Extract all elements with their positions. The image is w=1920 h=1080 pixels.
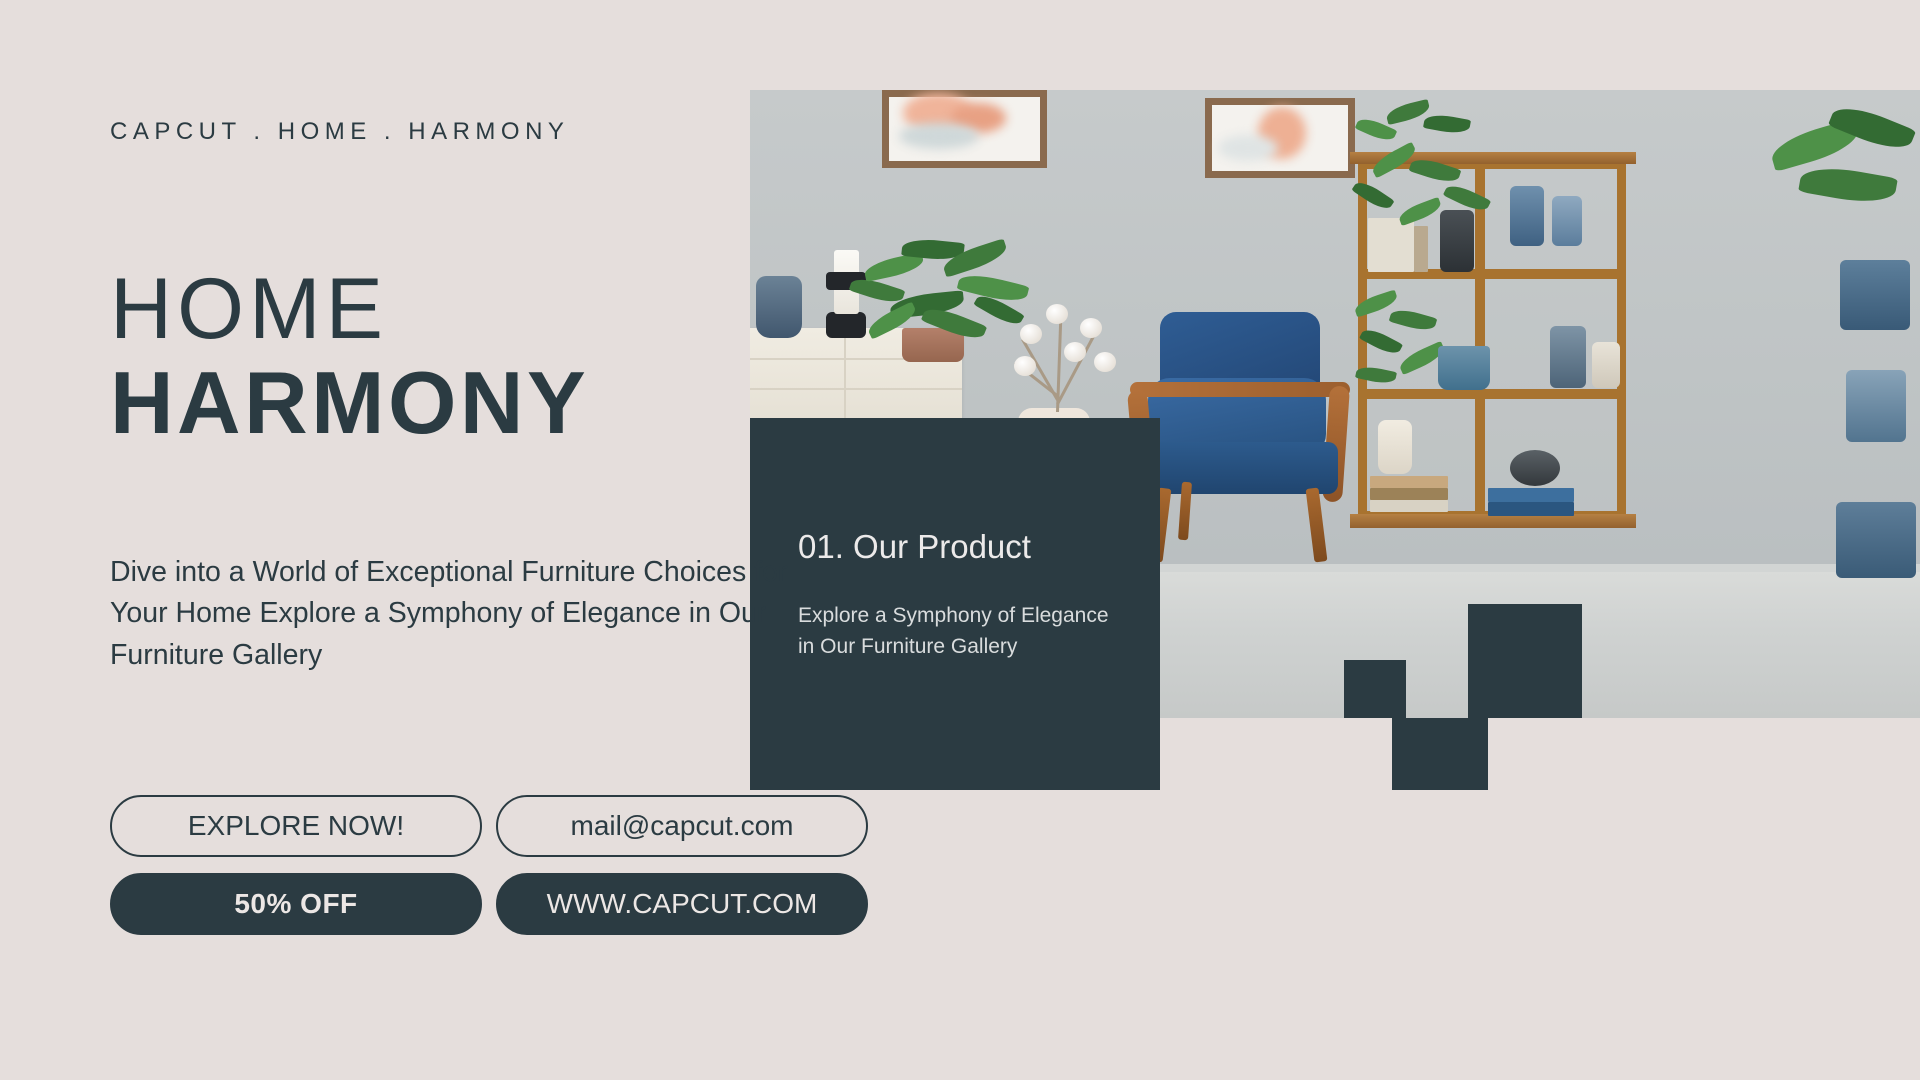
photo-monstera-leaf	[1770, 110, 1920, 250]
photo-shelf-planter-right	[1840, 260, 1910, 330]
photo-shelf-vase-right	[1846, 370, 1906, 442]
photo-fern-plant	[846, 230, 1046, 350]
explore-now-button[interactable]: EXPLORE NOW!	[110, 795, 482, 857]
left-content-column: CAPCUT . HOME . HARMONY HOME HARMONY Div…	[110, 0, 870, 1080]
photo-shelf-vase-grey	[1550, 326, 1586, 388]
page-title-line-2: HARMONY	[110, 359, 589, 447]
website-button[interactable]: WWW.CAPCUT.COM	[496, 873, 868, 935]
photo-shelf-bottom-rail	[1350, 514, 1636, 528]
discount-button[interactable]: 50% OFF	[110, 873, 482, 935]
photo-trailing-plant-top	[1346, 100, 1526, 250]
decorative-square-small	[1344, 660, 1406, 718]
email-button[interactable]: mail@capcut.com	[496, 795, 868, 857]
photo-floor-vase-right	[1836, 502, 1916, 578]
breadcrumb-eyebrow: CAPCUT . HOME . HARMONY	[110, 118, 569, 146]
photo-shelf-planter-blue	[1438, 346, 1490, 390]
decorative-square-large	[1468, 604, 1582, 718]
photo-shelf-book-stack-2	[1370, 488, 1448, 500]
photo-shelf-book-stack-1	[1370, 476, 1448, 488]
photo-shelf-blue-jar-2	[1552, 196, 1582, 246]
photo-cotton-stems	[1018, 312, 1128, 412]
photo-shelf-vase-cream	[1592, 342, 1620, 388]
cta-button-group: EXPLORE NOW! mail@capcut.com 50% OFF WWW…	[110, 795, 868, 935]
decorative-square-medium	[1392, 718, 1488, 790]
poster-canvas: 01. Our Product Explore a Symphony of El…	[0, 0, 1920, 1080]
page-title-line-1: HOME	[110, 268, 589, 351]
framed-artwork-right	[1205, 98, 1355, 178]
photo-armchair-arm-rail	[1130, 382, 1350, 397]
photo-armchair-seat	[1142, 442, 1338, 494]
photo-shelf-blue-book-1	[1488, 488, 1574, 502]
photo-shelf-blue-book-2	[1488, 502, 1574, 516]
photo-shelf-bowl	[1510, 450, 1560, 486]
framed-artwork-left	[882, 90, 1047, 168]
photo-shelf-white-vase	[1378, 420, 1412, 474]
hero-description: Dive into a World of Exceptional Furnitu…	[110, 552, 850, 676]
photo-shelf-book-stack-3	[1370, 500, 1448, 512]
page-title: HOME HARMONY	[110, 268, 589, 447]
